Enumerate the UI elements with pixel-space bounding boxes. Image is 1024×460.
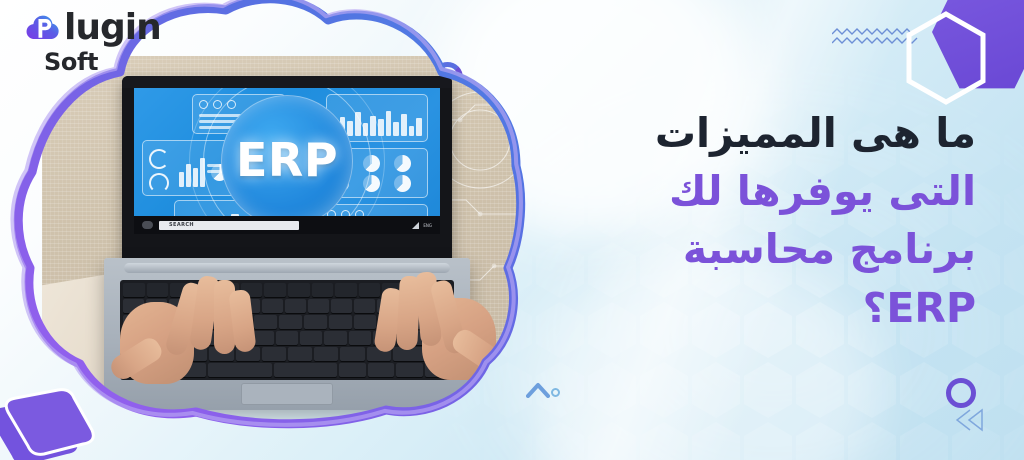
start-button[interactable] [142,221,153,229]
trackpad[interactable] [241,383,333,405]
double-chevron-left-icon [956,408,984,432]
laptop-lid: ERP SEARCH ENG [122,76,452,262]
headline-line-1: ما هى المميزات [584,104,976,162]
laptop-screen: ERP SEARCH ENG [134,88,440,234]
tray-language-label: ENG [423,223,432,228]
brand-logo[interactable]: lugin Soft [22,10,161,74]
cloud-plugin-icon [22,10,62,46]
search-input[interactable]: SEARCH [159,221,299,230]
logo-subtext: Soft [44,50,98,74]
circle-ring-icon [946,378,976,408]
headline-line-3: برنامج محاسبة [584,220,976,278]
screen-taskbar: SEARCH ENG [134,216,440,234]
screen-erp-title: ERP [236,133,338,187]
hexagon-solid-icon [932,0,1024,92]
headline-line-2: التى يوفرها لك [584,162,976,220]
system-tray[interactable]: ENG [412,222,432,229]
signal-icon [412,222,419,229]
zigzag-line-icon [832,28,920,50]
logo-primary-row: lugin [22,10,161,46]
logo-wordmark: lugin [64,10,161,46]
gauge-icon [149,149,169,169]
headline-line-4: ERP؟ [584,279,976,337]
erp-promo-banner: ERP SEARCH ENG [0,0,1024,460]
laptop-bezel [122,76,452,88]
laptop-hinge [124,263,450,273]
search-placeholder: SEARCH [169,222,194,228]
headline-block: ما هى المميزات التى يوفرها لك برنامج محا… [584,104,976,337]
hexagon-outline-icon [903,10,989,106]
gauge-icon [149,173,169,193]
